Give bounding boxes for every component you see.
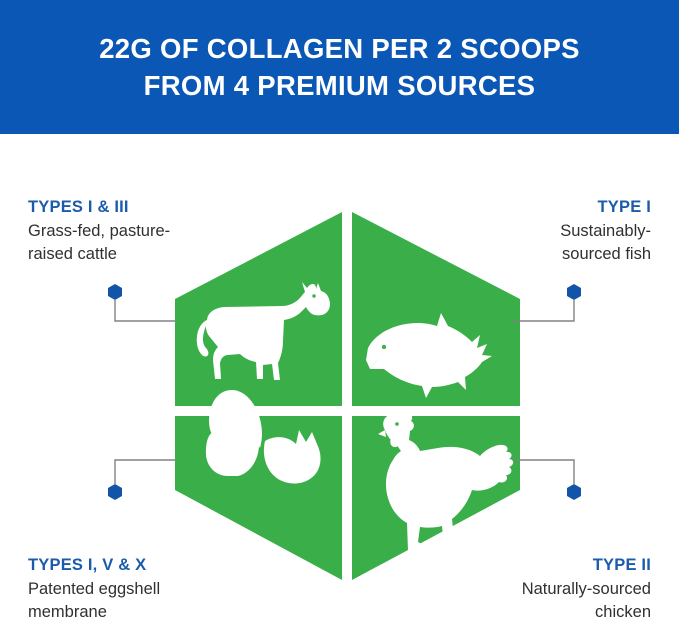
collagen-types-chicken: TYPE II <box>441 554 651 576</box>
source-description-fish-line-2: sourced fish <box>441 243 651 266</box>
collagen-types-cattle: TYPES I & III <box>28 196 238 218</box>
source-description-fish-line-1: Sustainably- <box>441 220 651 243</box>
source-description-eggshell-line-1: Patented eggshell <box>28 578 238 601</box>
hexagon-marker <box>567 284 581 300</box>
hexagon-marker <box>567 484 581 500</box>
source-description-eggshell-line-2: membrane <box>28 601 238 624</box>
cow-eye <box>312 294 315 297</box>
source-description-cattle-line-1: Grass-fed, pasture- <box>28 220 238 243</box>
collagen-types-eggshell: TYPES I, V & X <box>28 554 238 576</box>
connector-line <box>115 300 176 321</box>
hexagon-marker <box>108 484 122 500</box>
connector-eggshell <box>96 452 178 513</box>
quadrant-eggshell[interactable] <box>175 390 342 580</box>
source-label-fish: TYPE I Sustainably- sourced fish <box>441 196 651 265</box>
source-description-chicken-line-1: Naturally-sourced <box>441 578 651 601</box>
collagen-types-fish: TYPE I <box>441 196 651 218</box>
chicken-eye <box>395 422 399 426</box>
fish-eye <box>382 345 386 349</box>
connector-line <box>115 460 176 484</box>
source-label-cattle: TYPES I & III Grass-fed, pasture- raised… <box>28 196 238 265</box>
header-title-line-1: 22G OF COLLAGEN PER 2 SCOOPS <box>99 30 580 67</box>
hexagon-marker <box>108 284 122 300</box>
source-label-chicken: TYPE II Naturally-sourced chicken <box>441 554 651 623</box>
source-description-cattle-line-2: raised cattle <box>28 243 238 266</box>
header-title-line-2: FROM 4 PREMIUM SOURCES <box>144 67 536 104</box>
source-description-chicken-line-2: chicken <box>441 601 651 624</box>
header-banner: 22G OF COLLAGEN PER 2 SCOOPS FROM 4 PREM… <box>0 0 679 134</box>
connector-cattle <box>96 276 178 331</box>
source-label-eggshell: TYPES I, V & X Patented eggshell membran… <box>28 554 238 623</box>
